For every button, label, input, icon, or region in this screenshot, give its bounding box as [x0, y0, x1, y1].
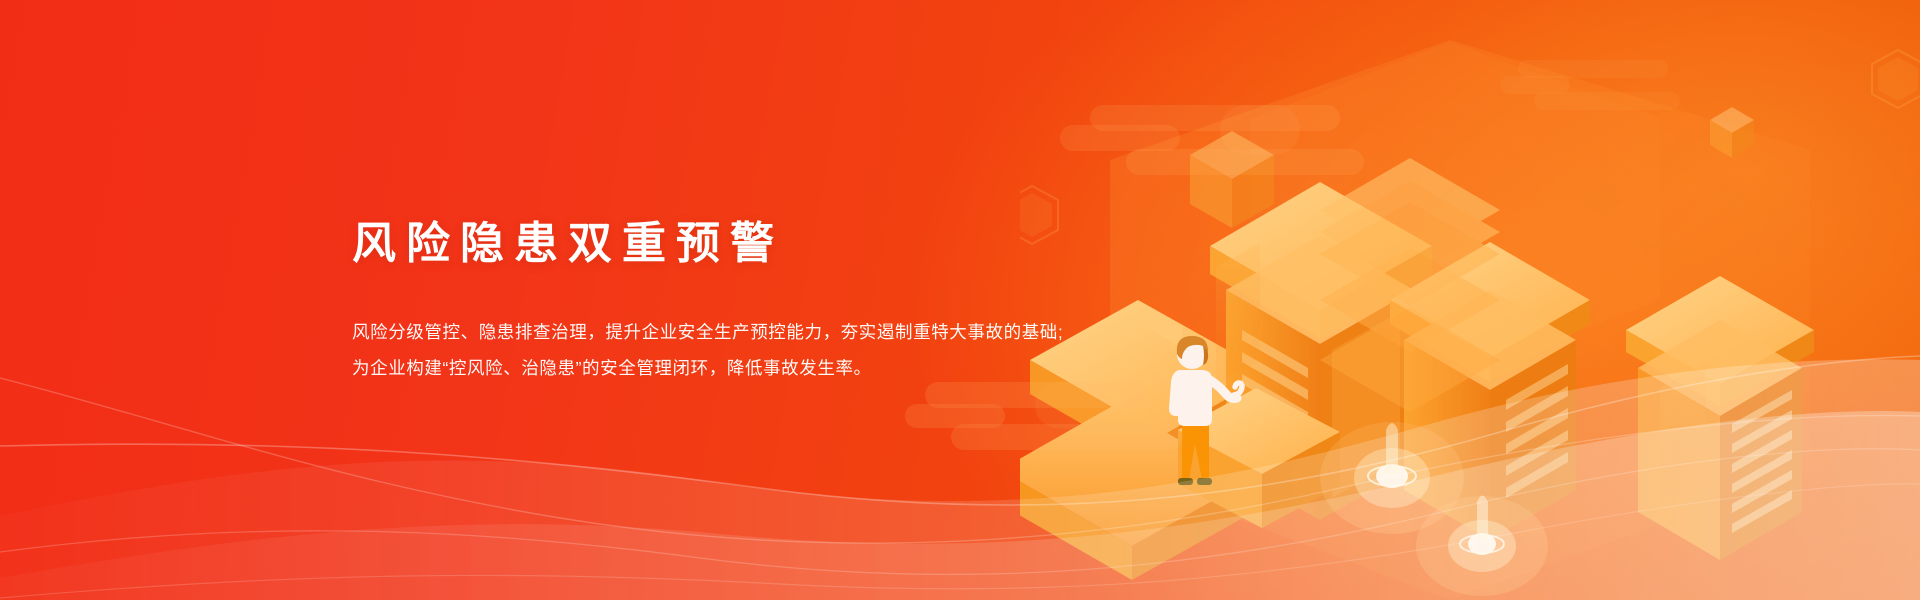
banner-copy: 风险隐患双重预警 风险分级管控、隐患排查治理，提升企业安全生产预控能力，夯实遏制… [352, 216, 1212, 387]
cloud-motif-middle [905, 382, 1165, 450]
subtitle-line-1: 风险分级管控、隐患排查治理，提升企业安全生产预控能力，夯实遏制重特大事故的基础; [352, 315, 1212, 351]
subtitle-line-2: 为企业构建“控风险、治隐患”的安全管理闭环，降低事故发生率。 [352, 351, 1212, 387]
character-shoe-right [1197, 478, 1212, 485]
server-tower-far-right [1626, 276, 1814, 560]
character-shoe-left [1178, 478, 1193, 485]
cloud-motif-small [1500, 60, 1680, 112]
hero-banner: 风险隐患双重预警 风险分级管控、隐患排查治理，提升企业安全生产预控能力，夯实遏制… [0, 0, 1920, 600]
cloud-motif-top [1060, 105, 1340, 177]
banner-subtitle: 风险分级管控、隐患排查治理，提升企业安全生产预控能力，夯实遏制重特大事故的基础;… [352, 315, 1212, 387]
page-title: 风险隐患双重预警 [352, 216, 1212, 271]
stacked-plates [1320, 158, 1500, 412]
